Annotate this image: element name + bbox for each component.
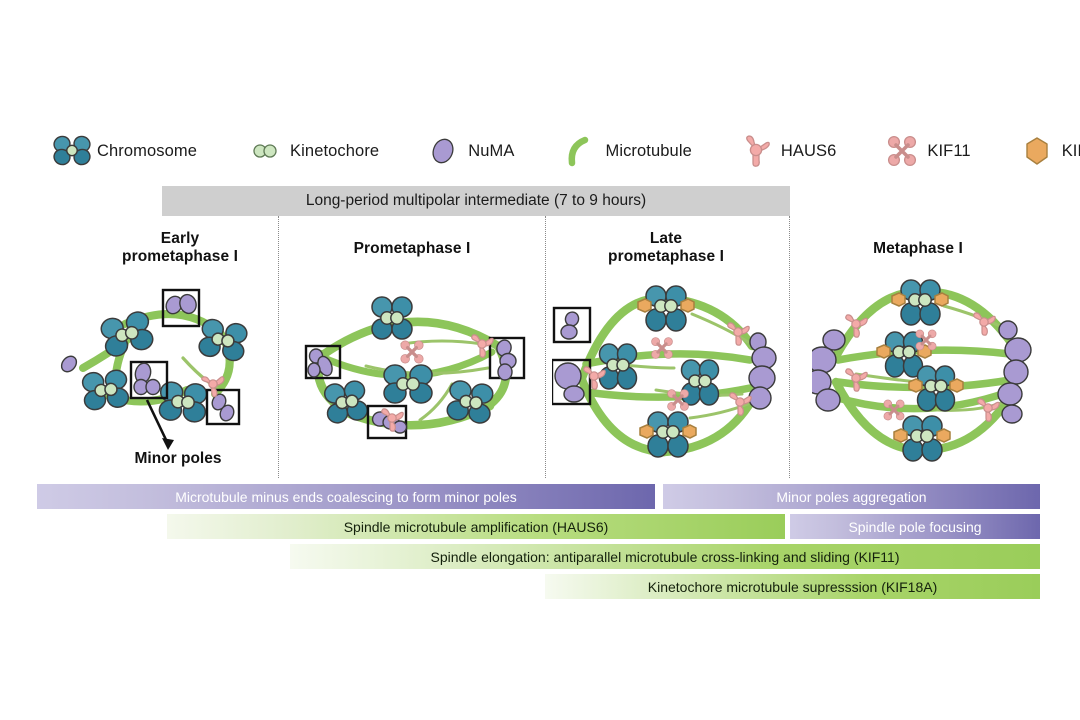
haus6-icon [734, 129, 778, 173]
process-bar-kinetochore-microtubule-suppression: Kinetochore microtubule supresssion (KIF… [545, 574, 1040, 599]
legend-label-haus6: HAUS6 [781, 142, 837, 161]
aggregated-pole-right [749, 333, 776, 409]
legend-item-haus6: HAUS6 [734, 129, 837, 173]
phase-label-line1: Metaphase I [828, 240, 1008, 258]
phase-label-metaphase-i: Metaphase I [828, 240, 1008, 258]
process-bar-label: Spindle pole focusing [848, 519, 981, 535]
process-bar-spindle-elongation: Spindle elongation: antiparallel microtu… [290, 544, 1040, 569]
legend-label-kif11: KIF11 [927, 142, 970, 161]
process-bar-label: Spindle microtubule amplification (HAUS6… [344, 519, 609, 535]
chromosome-icon [50, 129, 94, 173]
period-band-label: Long-period multipolar intermediate (7 t… [306, 192, 646, 210]
minor-poles-label: Minor poles [108, 450, 248, 468]
legend-label-numa: NuMA [468, 142, 514, 161]
column-divider-2 [545, 216, 546, 478]
legend-label-microtubule: Microtubule [605, 142, 691, 161]
legend-label-kinetochore: Kinetochore [290, 142, 379, 161]
panel-prometaphase-i [292, 288, 540, 470]
legend-item-microtubule: Microtubule [558, 129, 691, 173]
kif18a-icon [1015, 129, 1059, 173]
legend-item-chromosome: Chromosome [50, 129, 197, 173]
phase-label-line2: prometaphase I [90, 248, 270, 266]
phase-label-early-prometaphase-i: Early prometaphase I [90, 230, 270, 267]
legend-item-kif11: KIF11 [880, 129, 970, 173]
period-band: Long-period multipolar intermediate (7 t… [162, 186, 790, 216]
phase-label-late-prometaphase-i: Late prometaphase I [576, 230, 756, 267]
legend-item-kinetochore: Kinetochore [243, 129, 379, 173]
process-bar-label: Spindle elongation: antiparallel microtu… [431, 549, 900, 565]
legend-item-numa: NuMA [421, 129, 514, 173]
minor-pole-box-1 [554, 308, 590, 342]
panel-early-prometaphase-i [55, 272, 283, 472]
process-bar-spindle-microtubule-amplification: Spindle microtubule amplification (HAUS6… [167, 514, 785, 539]
process-bar-label: Minor poles aggregation [776, 489, 926, 505]
phase-label-line1: Prometaphase I [322, 240, 502, 258]
phase-label-line2: prometaphase I [576, 248, 756, 266]
process-bar-minor-poles-aggregation: Minor poles aggregation [663, 484, 1040, 509]
microtubule-icon [558, 129, 602, 173]
legend: Chromosome Kinetochore NuMA [50, 128, 1040, 174]
phase-label-line1: Early [90, 230, 270, 248]
legend-item-kif18a: KIF18A [1015, 129, 1080, 173]
kif11-icon [880, 129, 924, 173]
panel-late-prometaphase-i [552, 272, 802, 472]
process-bar-spindle-pole-focusing: Spindle pole focusing [790, 514, 1040, 539]
kinetochore-icon [243, 129, 287, 173]
process-bar-label: Kinetochore microtubule supresssion (KIF… [648, 579, 937, 595]
figure-root: Chromosome Kinetochore NuMA [0, 0, 1080, 720]
phase-label-prometaphase-i: Prometaphase I [322, 240, 502, 258]
legend-label-chromosome: Chromosome [97, 142, 197, 161]
numa-icon [421, 129, 465, 173]
process-bar-microtubule-minus-ends: Microtubule minus ends coalescing to for… [37, 484, 655, 509]
phase-label-line1: Late [576, 230, 756, 248]
spindle-pole-left [812, 330, 845, 411]
process-bar-label: Microtubule minus ends coalescing to for… [175, 489, 517, 505]
panel-metaphase-i [812, 270, 1042, 470]
legend-label-kif18a: KIF18A [1062, 142, 1080, 161]
